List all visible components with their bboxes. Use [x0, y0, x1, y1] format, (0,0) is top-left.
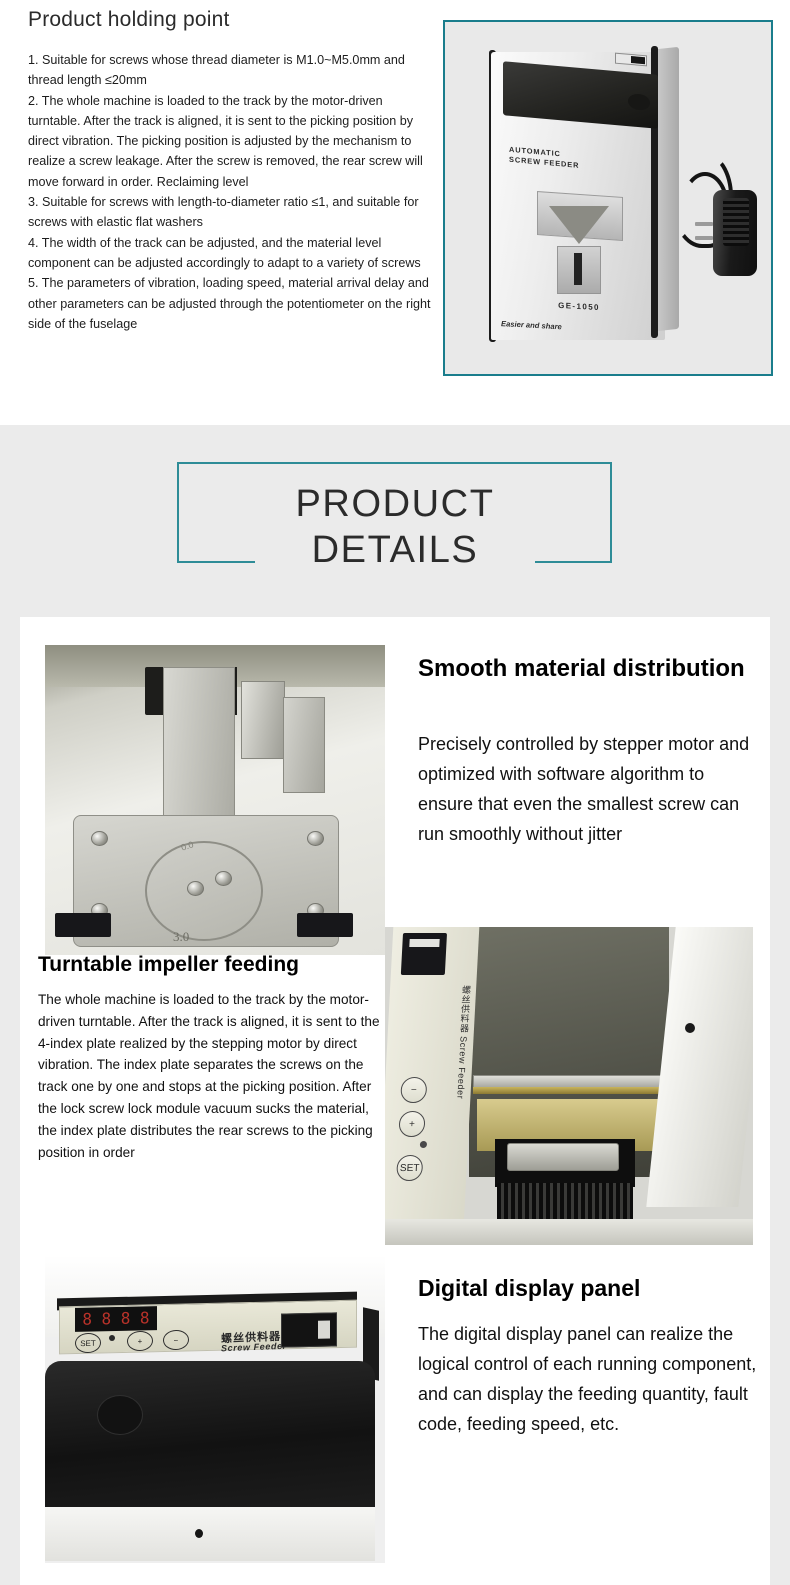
product-details-section: PRODUCT DETAILS 0.0 3.0 Smooth materi: [0, 425, 790, 1585]
section-body-smooth-material: Precisely controlled by stepper motor an…: [418, 729, 763, 849]
panel-label-en: Screw Feeder: [221, 1341, 287, 1354]
brass-track: [473, 1087, 669, 1094]
hero-product-photo: AUTOMATIC SCREW FEEDER GE-1050 Easier an…: [443, 20, 773, 376]
plate-marking: 3.0: [173, 929, 189, 945]
brass-spring: [249, 757, 261, 791]
black-block: [55, 913, 111, 937]
list-item: 1. Suitable for screws whose thread diam…: [28, 50, 433, 91]
metal-cover-plate: [507, 1143, 619, 1171]
banner-line-2: DETAILS: [0, 527, 790, 573]
power-adapter-ribs: [723, 198, 749, 246]
machine-base-panel: [45, 1507, 375, 1561]
section-heading-digital-display: Digital display panel: [418, 1275, 763, 1302]
display-digit: 8: [119, 1310, 133, 1328]
panel-label-cn: 螺丝供料器: [459, 985, 472, 1033]
status-led-icon: [109, 1335, 115, 1341]
product-holding-point-section: Product holding point 1. Suitable for sc…: [0, 0, 790, 425]
digital-display-photo: 8 8 8 8 SET + − 螺丝供料器 Screw Feeder: [45, 1255, 385, 1563]
machine-interior-photo: 螺丝供料器 Screw Feeder − + SET: [385, 927, 753, 1245]
list-item: 2. The whole machine is loaded to the tr…: [28, 91, 433, 192]
section-body-turntable: The whole machine is loaded to the track…: [38, 989, 390, 1163]
banner-line-1: PRODUCT: [0, 481, 790, 527]
page-title: Product holding point: [28, 8, 230, 32]
seven-segment-display: 8 8 8 8: [75, 1306, 157, 1332]
power-rocker-switch[interactable]: [401, 933, 447, 975]
display-digit: 8: [138, 1309, 152, 1327]
product-details-banner: PRODUCT DETAILS: [0, 481, 790, 573]
list-item: 4. The width of the track can be adjuste…: [28, 233, 433, 274]
metal-bracket: [241, 681, 285, 759]
list-item: 5. The parameters of vibration, loading …: [28, 273, 433, 334]
set-button[interactable]: SET: [396, 1155, 423, 1181]
power-rocker-switch[interactable]: [281, 1312, 337, 1347]
section-heading-turntable: Turntable impeller feeding: [38, 953, 398, 977]
rotating-disc: [145, 841, 263, 941]
plug-prong: [695, 236, 713, 240]
display-digit: 8: [99, 1310, 113, 1328]
bolt: [307, 831, 324, 846]
section-heading-smooth-material: Smooth material distribution: [418, 652, 753, 685]
machine-v-track: [549, 206, 609, 244]
screw-feeder-machine-image: AUTOMATIC SCREW FEEDER GE-1050 Easier an…: [445, 22, 771, 374]
body-opening: [97, 1395, 143, 1435]
details-content-card: 0.0 3.0 Smooth material distribution Pre…: [20, 617, 770, 1585]
section-body-digital-display: The digital display panel can realize th…: [418, 1319, 758, 1439]
base-screw-hole: [195, 1529, 203, 1538]
plug-prong: [695, 222, 713, 226]
index-plate-photo: 0.0 3.0: [45, 645, 385, 955]
panel-label-en: Screw Feeder: [455, 1036, 468, 1099]
bolt: [187, 881, 204, 896]
metal-bracket-secondary: [283, 697, 325, 793]
list-item: 3. Suitable for screws with length-to-di…: [28, 192, 433, 233]
bolt: [215, 871, 232, 886]
display-digit: 8: [80, 1310, 94, 1328]
lid-hole: [685, 1023, 695, 1033]
holding-point-list: 1. Suitable for screws whose thread diam…: [28, 50, 433, 334]
machine-black-body: [45, 1361, 375, 1511]
black-block: [297, 913, 353, 937]
side-control-panel: 螺丝供料器 Screw Feeder − + SET: [385, 927, 479, 1245]
plus-button[interactable]: +: [398, 1111, 425, 1137]
status-led-icon: [420, 1141, 427, 1148]
machine-base-edge: [385, 1219, 753, 1245]
bolt: [91, 831, 108, 846]
machine-pickup-chute: [557, 246, 601, 294]
